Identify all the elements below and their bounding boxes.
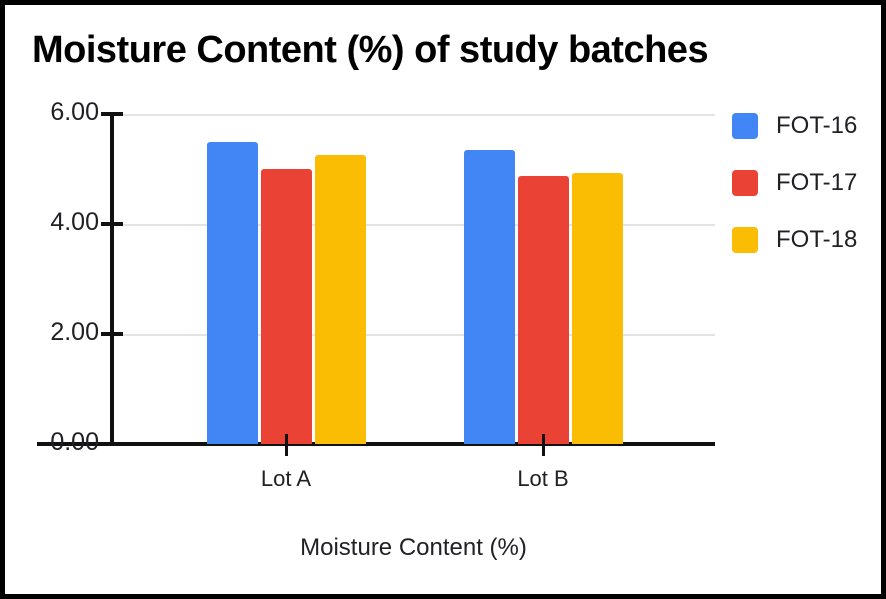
x-axis-tick-label: Lot B: [517, 466, 568, 492]
bar-fot-18-lot-b[interactable]: [572, 173, 623, 444]
chart-frame: Moisture Content (%) of study batches 0.…: [0, 0, 886, 599]
y-axis-tick-label: 6.00: [19, 98, 99, 127]
y-axis-line: [110, 114, 114, 446]
y-axis-tick-mark: [101, 442, 123, 446]
bar-fot-16-lot-b[interactable]: [464, 150, 515, 444]
gridline: [112, 334, 715, 336]
x-axis-tick-mark: [285, 434, 288, 456]
bar-fot-17-lot-a[interactable]: [261, 169, 312, 444]
chart-canvas: Moisture Content (%) of study batches 0.…: [5, 5, 881, 594]
y-axis-tick-mark: [101, 332, 123, 336]
legend-label: FOT-16: [776, 112, 857, 140]
legend-item-fot-18[interactable]: FOT-18: [732, 211, 877, 268]
chart-title: Moisture Content (%) of study batches: [32, 29, 708, 72]
y-axis-tick-label: 4.00: [19, 208, 99, 237]
bar-fot-17-lot-b[interactable]: [518, 176, 569, 444]
legend-label: FOT-18: [776, 226, 857, 254]
y-axis-tick-mark: [101, 222, 123, 226]
bar-fot-18-lot-a[interactable]: [315, 155, 366, 444]
legend-swatch-icon: [732, 170, 758, 196]
plot-area: [112, 114, 715, 444]
y-axis-tick-label: 2.00: [19, 318, 99, 347]
legend-item-fot-16[interactable]: FOT-16: [732, 97, 877, 154]
y-axis-tick-labels: 0.002.004.006.00: [13, 5, 99, 594]
gridline: [112, 114, 715, 116]
x-axis-title: Moisture Content (%): [112, 534, 715, 562]
bar-fot-16-lot-a[interactable]: [207, 142, 258, 445]
legend-swatch-icon: [732, 227, 758, 253]
y-axis-tick-label: 0.00: [19, 428, 99, 457]
y-axis-tick-mark: [101, 112, 123, 116]
gridline: [112, 224, 715, 226]
chart-legend: FOT-16FOT-17FOT-18: [732, 97, 877, 268]
legend-item-fot-17[interactable]: FOT-17: [732, 154, 877, 211]
legend-swatch-icon: [732, 113, 758, 139]
legend-label: FOT-17: [776, 169, 857, 197]
x-axis-tick-label: Lot A: [261, 466, 311, 492]
x-axis-tick-mark: [542, 434, 545, 456]
